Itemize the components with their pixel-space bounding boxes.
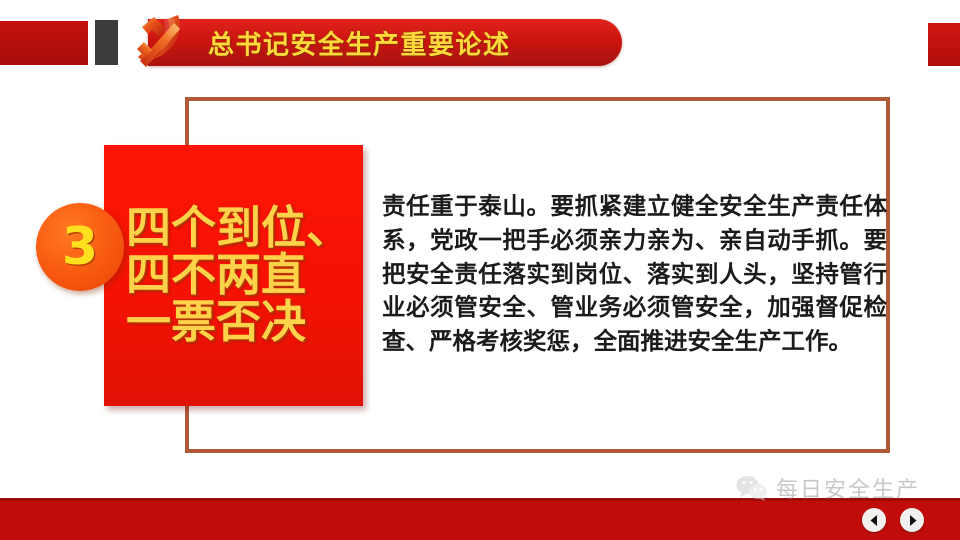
step-number-value: 3	[62, 221, 98, 273]
footer-bar	[0, 498, 960, 540]
wechat-icon	[735, 474, 769, 502]
step-number-badge: 3	[36, 203, 124, 291]
headline-line-1: 四个到位、	[126, 205, 363, 252]
header-banner: 总书记安全生产重要论述	[148, 19, 622, 66]
header-banner-title: 总书记安全生产重要论述	[208, 24, 511, 61]
headline-line-2: 四不两直	[126, 252, 363, 299]
headline-red-box: 四个到位、 四不两直 一票否决	[104, 145, 363, 406]
party-emblem-hammer-sickle-icon	[128, 9, 192, 71]
header-right-red-block	[928, 23, 960, 66]
watermark: 每日安全生产	[735, 472, 920, 504]
arrow-left-icon[interactable]	[862, 508, 886, 532]
headline-lines: 四个到位、 四不两直 一票否决	[104, 205, 363, 345]
slide-canvas: 总书记安全生产重要论述	[0, 0, 960, 540]
arrow-right-icon[interactable]	[900, 508, 924, 532]
headline-line-3: 一票否决	[126, 299, 363, 346]
header-left-red-block	[0, 21, 88, 65]
watermark-text: 每日安全生产	[776, 472, 920, 504]
header-gray-block	[95, 20, 118, 65]
body-paragraph: 责任重于泰山。要抓紧建立健全安全生产责任体系，党政一把手必须亲力亲为、亲自动手抓…	[382, 190, 887, 359]
slide-navigation	[862, 508, 924, 532]
